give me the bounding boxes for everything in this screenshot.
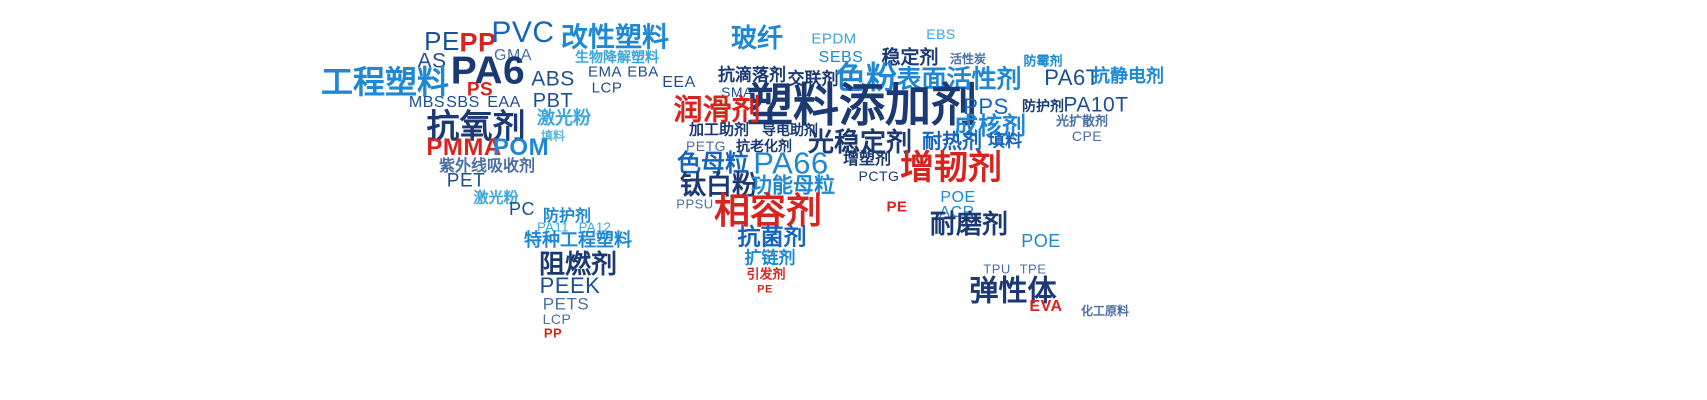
word-cloud-term[interactable]: EPDM [811,32,856,47]
word-cloud-term[interactable]: POE [1021,232,1061,250]
word-cloud-term[interactable]: EEA [662,75,696,91]
word-cloud-term[interactable]: PVC [491,18,554,48]
word-cloud-term[interactable]: PA10T [1063,95,1128,116]
word-cloud-term[interactable]: 玻纤 [731,26,783,52]
word-cloud-term[interactable]: 活性炭 [950,53,986,65]
word-cloud-term[interactable]: PETS [543,296,589,313]
word-cloud-term[interactable]: 引发剂 [746,269,785,282]
word-cloud-term[interactable]: 扩链剂 [745,251,796,268]
word-cloud-term[interactable]: EBS [926,27,956,41]
word-cloud-term[interactable]: 塑料添加剂 [747,82,977,128]
word-cloud-term[interactable]: PCTG [859,169,900,183]
word-cloud-term[interactable]: PE [886,200,907,215]
word-cloud-term[interactable]: EVA [1029,299,1062,315]
word-cloud-term[interactable]: PPSU [676,198,713,211]
word-cloud-canvas: PEPPPVCGMAASPA6工程塑料ABSPSMBSSBSEAAPBT抗氧剂激… [0,0,1707,400]
word-cloud-term[interactable]: 特种工程塑料 [524,232,632,250]
word-cloud-term[interactable]: CPE [1072,129,1102,143]
word-cloud-term[interactable]: 抗菌剂 [738,227,807,250]
word-cloud-term[interactable]: 激光粉 [537,110,591,128]
word-cloud-term[interactable]: EMA [588,65,622,80]
word-cloud-term[interactable]: 增塑剂 [843,151,891,167]
word-cloud-term[interactable]: PC [509,200,535,218]
word-cloud-term[interactable]: PE [757,285,773,296]
word-cloud-term[interactable]: LCP [543,312,572,326]
word-cloud-term[interactable]: 改性塑料 [561,25,669,52]
word-cloud-term[interactable]: EBA [627,65,659,80]
word-cloud-term[interactable]: 加工助剂 [689,123,749,138]
word-cloud-term[interactable]: ABS [531,69,575,90]
word-cloud-term[interactable]: 抗静电剂 [1092,68,1164,86]
word-cloud-term[interactable]: PP [544,327,562,340]
word-cloud-term[interactable]: 耐磨剂 [930,212,1008,238]
word-cloud-term[interactable]: 光扩散剂 [1056,116,1108,129]
word-cloud-term[interactable]: 增韧剂 [900,151,1002,185]
word-cloud-term[interactable]: 化工原料 [1081,305,1129,317]
word-cloud-term[interactable]: LCP [592,81,623,96]
word-cloud-term[interactable]: 防护剂 [1022,100,1064,114]
